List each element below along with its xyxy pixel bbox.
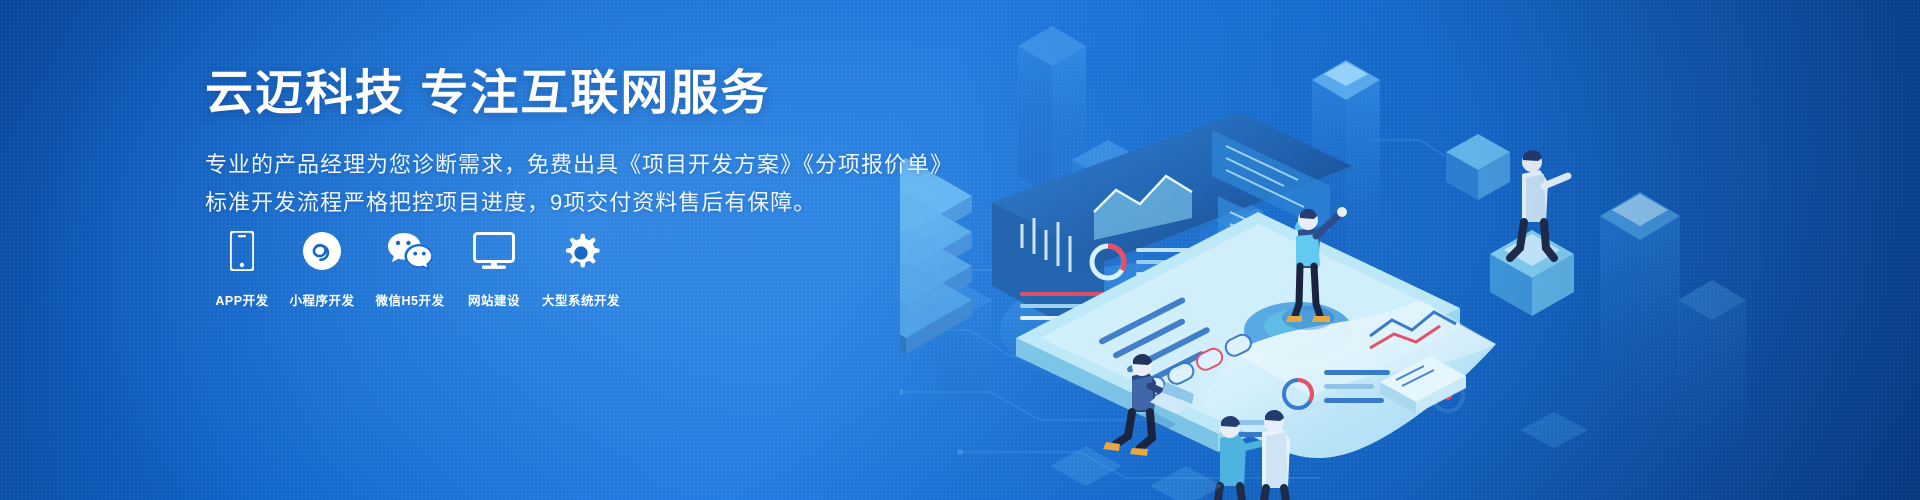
page-title: 云迈科技 专注互联网服务 xyxy=(205,64,905,124)
service-label: 大型系统开发 xyxy=(533,290,629,309)
wechat-icon xyxy=(365,228,455,274)
service-item-mini-program[interactable]: 小程序开发 xyxy=(279,228,365,309)
service-item-website[interactable]: 网站建设 xyxy=(455,228,533,309)
service-item-wechat-h5[interactable]: 微信H5开发 xyxy=(365,228,455,309)
service-label: 小程序开发 xyxy=(279,290,365,309)
service-item-app[interactable]: APP开发 xyxy=(205,228,279,309)
marketing-banner: 云迈科技 专注互联网服务 专业的产品经理为您诊断需求，免费出具《项目开发方案》《… xyxy=(0,0,1920,500)
service-label: 网站建设 xyxy=(455,290,533,309)
gear-icon xyxy=(533,228,629,274)
service-item-large-system[interactable]: 大型系统开发 xyxy=(533,228,629,309)
monitor-icon xyxy=(455,228,533,274)
service-list: APP开发 小程序开发 微信 xyxy=(205,228,629,309)
mini-program-icon xyxy=(279,228,365,274)
subtitle-line-2: 标准开发流程严格把控项目进度，9项交付资料售后有保障。 xyxy=(205,184,905,222)
service-label: 微信H5开发 xyxy=(365,290,455,309)
subtitle-block: 专业的产品经理为您诊断需求，免费出具《项目开发方案》《分项报价单》 标准开发流程… xyxy=(205,146,905,222)
banner-copy: 云迈科技 专注互联网服务 专业的产品经理为您诊断需求，免费出具《项目开发方案》《… xyxy=(205,64,905,222)
accent-cube xyxy=(1446,134,1510,200)
right-tower xyxy=(1600,192,1680,420)
right-tower-2 xyxy=(1678,280,1746,452)
subtitle-line-1: 专业的产品经理为您诊断需求，免费出具《项目开发方案》《分项报价单》 xyxy=(205,146,905,184)
service-label: APP开发 xyxy=(205,290,279,309)
mobile-phone-icon xyxy=(205,228,279,274)
isometric-illustration xyxy=(900,0,1920,500)
